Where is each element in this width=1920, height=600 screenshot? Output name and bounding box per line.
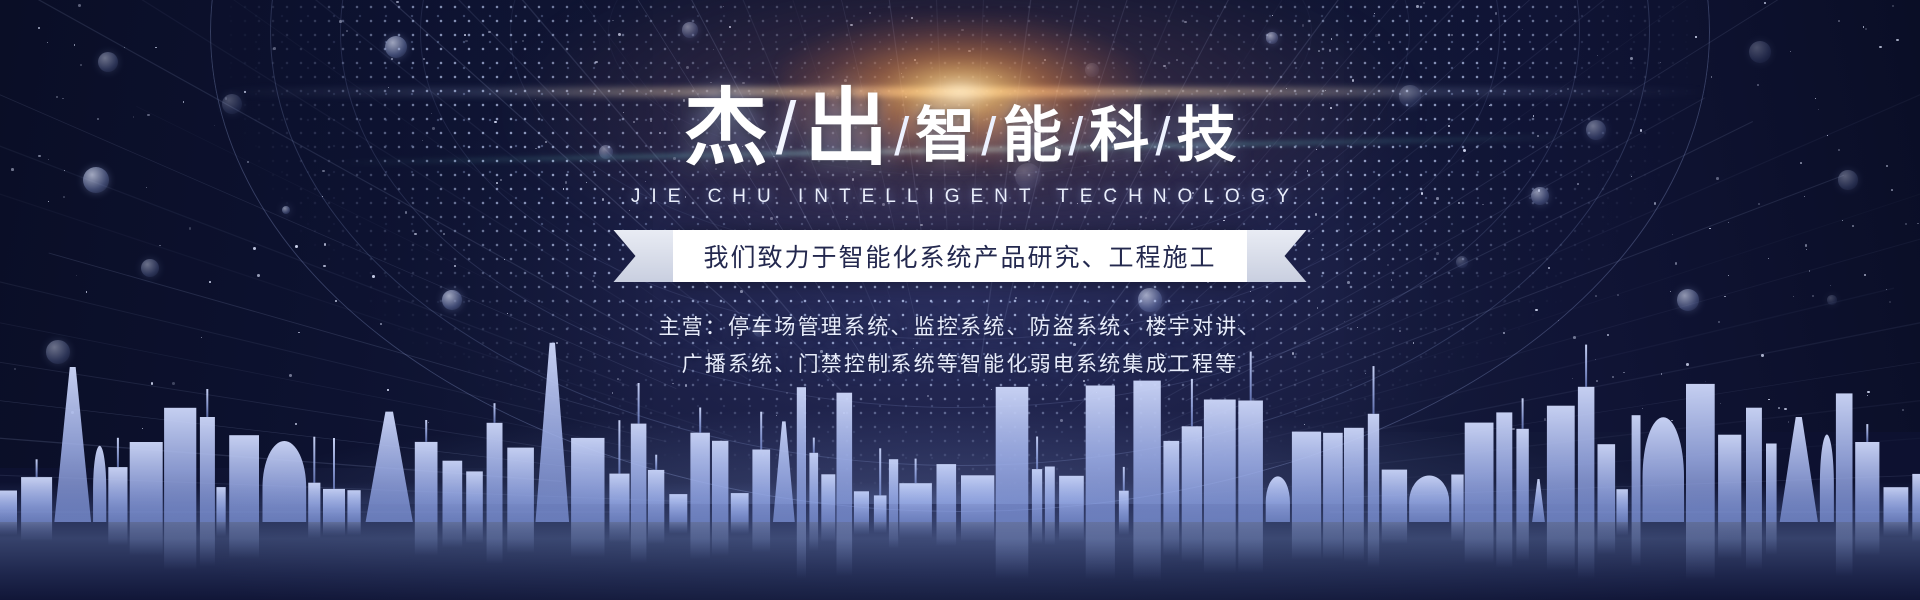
title-char-3: 智	[915, 106, 975, 166]
description-line-1: 主营：停车场管理系统、监控系统、防盗系统、楼宇对讲、	[658, 310, 1261, 347]
main-title: 杰 / 出 / 智 / 能 / 科 / 技	[684, 86, 1237, 170]
title-separator: /	[1068, 110, 1083, 164]
title-separator: /	[981, 110, 996, 164]
title-char-4: 能	[1002, 106, 1062, 166]
subtitle-english: JIE CHU INTELLIGENT TECHNOLOGY	[620, 186, 1300, 208]
banner-content: 杰 / 出 / 智 / 能 / 科 / 技 JIE CHU INTELLIGEN…	[0, 0, 1920, 384]
title-char-1: 杰	[684, 86, 768, 170]
title-separator: /	[776, 92, 797, 166]
ribbon-tail-left	[613, 230, 673, 282]
ribbon-tail-right	[1247, 230, 1307, 282]
description-line-2: 广播系统、门禁控制系统等智能化弱电系统集成工程等	[658, 347, 1261, 384]
title-separator: /	[894, 110, 909, 164]
description-block: 主营：停车场管理系统、监控系统、防盗系统、楼宇对讲、 广播系统、门禁控制系统等智…	[658, 310, 1261, 384]
ribbon-body: 我们致力于智能化系统产品研究、工程施工	[673, 230, 1246, 282]
title-separator: /	[1155, 110, 1170, 164]
ribbon-banner: 我们致力于智能化系统产品研究、工程施工	[613, 230, 1306, 282]
hero-banner: 杰 / 出 / 智 / 能 / 科 / 技 JIE CHU INTELLIGEN…	[0, 0, 1920, 600]
title-char-5: 科	[1089, 106, 1149, 166]
title-char-2: 出	[804, 86, 888, 170]
title-char-6: 技	[1176, 106, 1236, 166]
ribbon-text: 我们致力于智能化系统产品研究、工程施工	[703, 238, 1216, 274]
